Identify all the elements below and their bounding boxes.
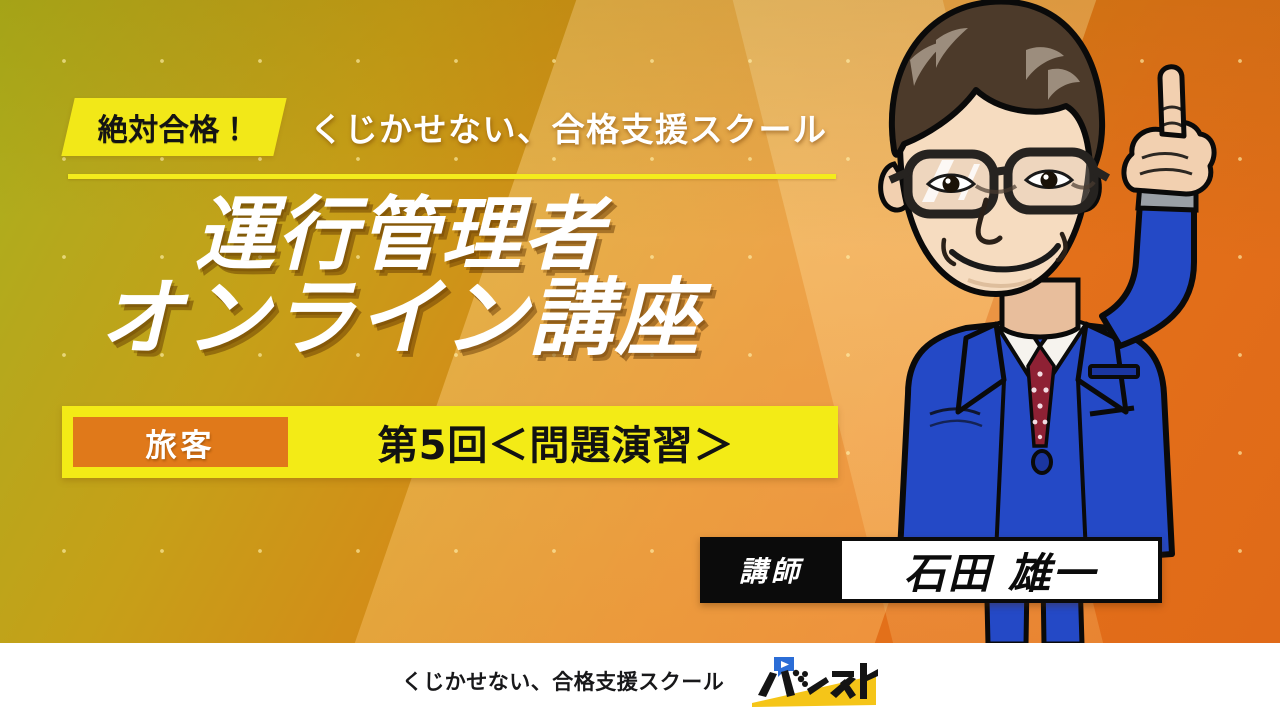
course-title-slide: 絶対合格！ くじかせない、合格支援スクール 運行管理者 オンライン講座 旅客 第…	[0, 0, 1280, 719]
lesson-category-tag: 旅客	[73, 417, 288, 467]
guarantee-badge: 絶対合格！	[61, 98, 286, 156]
footer-tagline: くじかせない、合格支援スクール	[402, 666, 725, 696]
instructor-nameplate: 講師 石田 雄一	[700, 537, 1162, 603]
pashisuto-logo	[750, 653, 878, 709]
guarantee-badge-label: 絶対合格！	[68, 98, 280, 156]
lesson-category-label: 旅客	[146, 420, 216, 465]
lesson-bar: 旅客 第5回＜問題演習＞	[62, 406, 838, 478]
instructor-role-label: 講師	[700, 537, 842, 603]
lesson-session-label: 第5回＜問題演習＞	[288, 413, 838, 471]
school-subtitle: くじかせない、合格支援スクール	[310, 103, 828, 151]
instructor-name: 石田 雄一	[842, 537, 1162, 603]
page-title: 運行管理者 オンライン講座	[0, 192, 800, 363]
header-underline	[68, 174, 836, 179]
footer-bar: くじかせない、合格支援スクール	[0, 643, 1280, 719]
title-line-2: オンライン講座	[0, 274, 800, 364]
header-badge-row: 絶対合格！ くじかせない、合格支援スクール	[68, 98, 828, 156]
title-line-1: 運行管理者	[0, 192, 800, 278]
